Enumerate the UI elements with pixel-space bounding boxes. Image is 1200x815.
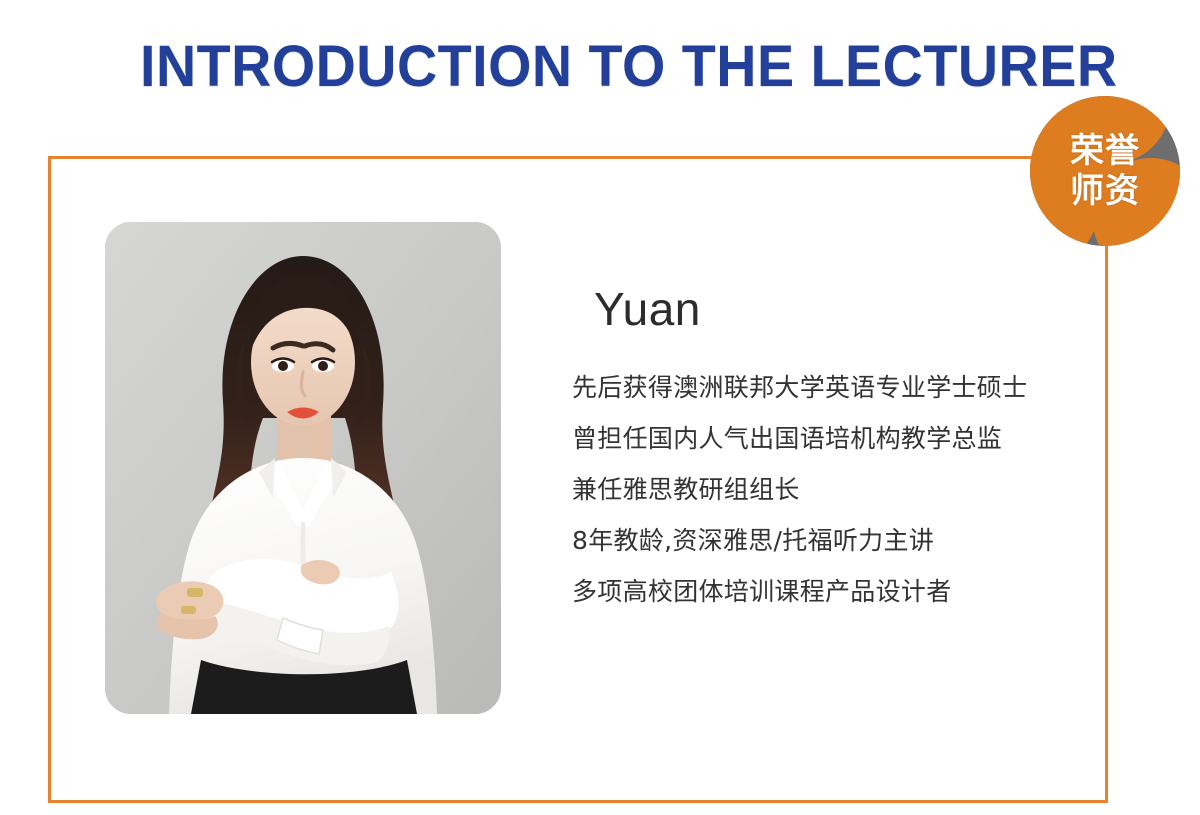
lecturer-photo: [105, 222, 501, 714]
honor-badge-text: 荣誉 师资: [1030, 96, 1180, 246]
bio-line: 曾担任国内人气出国语培机构教学总监: [572, 413, 1092, 464]
frame-left-border: [48, 156, 51, 803]
frame-top-border: [48, 156, 1030, 159]
honor-badge-line-2: 师资: [1070, 172, 1140, 210]
page-title: INTRODUCTION TO THE LECTURER: [140, 36, 1118, 98]
honor-badge: 荣誉 师资: [1030, 96, 1180, 246]
lecturer-bio-list: 先后获得澳洲联邦大学英语专业学士硕士 曾担任国内人气出国语培机构教学总监 兼任雅…: [572, 362, 1092, 617]
slide-root: INTRODUCTION TO THE LECTURER 荣誉 师资: [0, 0, 1200, 815]
frame-bottom-border: [48, 800, 1108, 803]
bio-line: 多项高校团体培训课程产品设计者: [572, 566, 1092, 617]
badge-connector-left: [995, 156, 1033, 159]
bio-line: 8年教龄,资深雅思/托福听力主讲: [572, 515, 1092, 566]
frame-right-border: [1105, 235, 1108, 803]
lecturer-name: Yuan: [594, 283, 701, 335]
honor-badge-line-1: 荣誉: [1070, 132, 1140, 170]
bio-line: 兼任雅思教研组组长: [572, 464, 1092, 515]
bio-line: 先后获得澳洲联邦大学英语专业学士硕士: [572, 362, 1092, 413]
